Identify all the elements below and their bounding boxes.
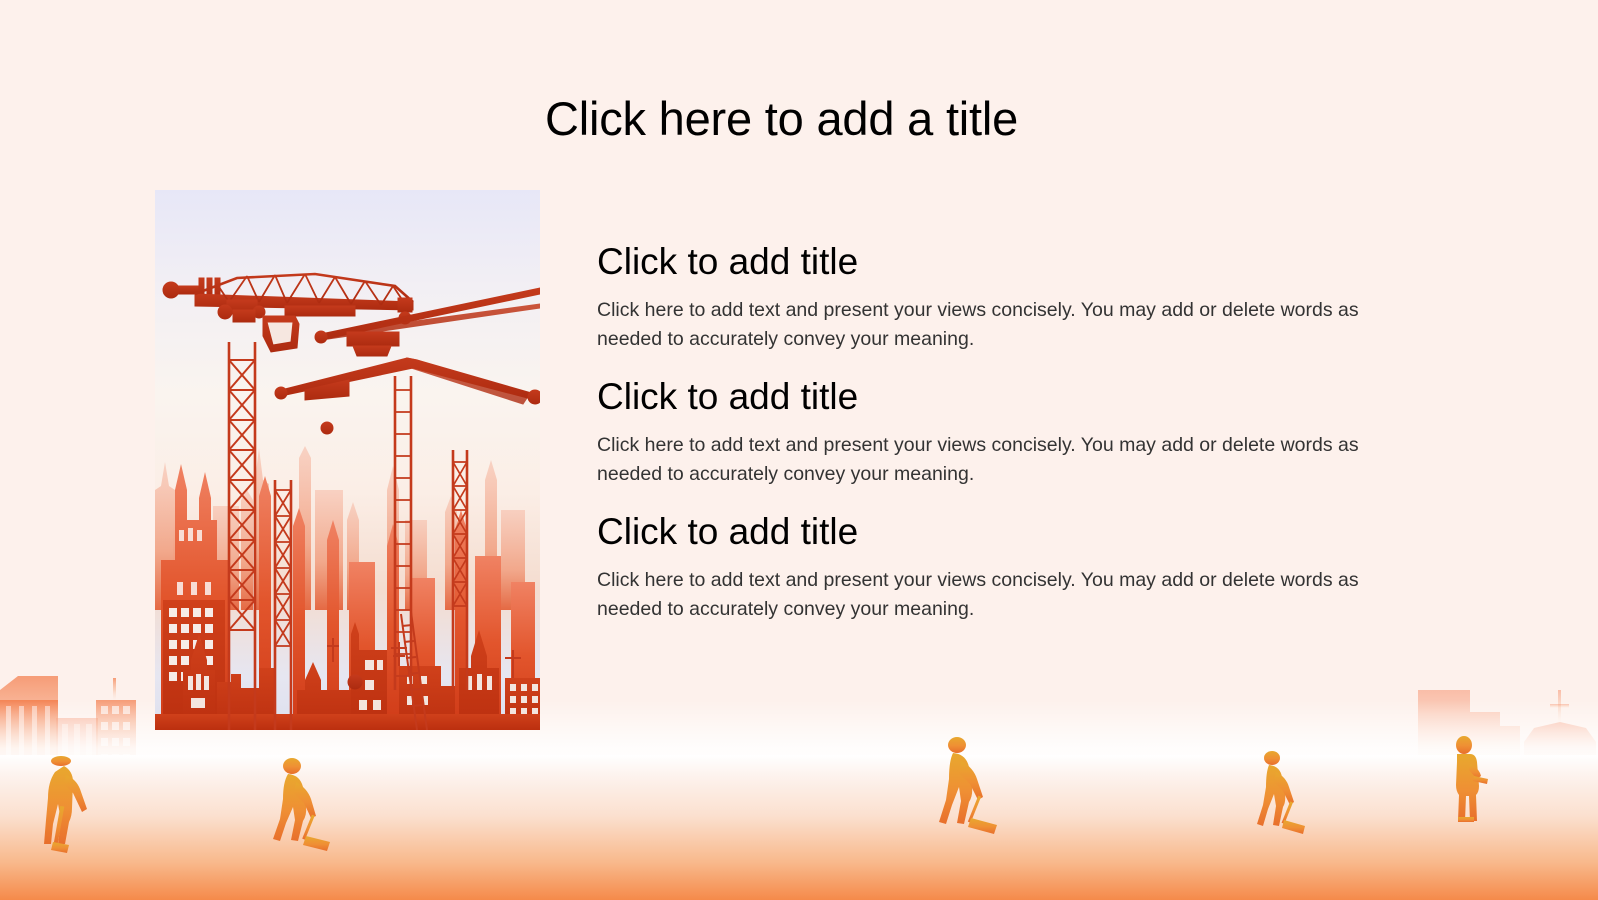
worker-sweeping-center: [939, 737, 997, 834]
content-block-1[interactable]: Click to add title Click here to add tex…: [597, 240, 1457, 353]
content-block-3-body[interactable]: Click here to add text and present your …: [597, 566, 1429, 623]
background-building-left-windowtower: [96, 678, 136, 812]
content-block-2-title[interactable]: Click to add title: [597, 375, 1457, 419]
worker-standing-right: [1456, 736, 1488, 822]
content-block-3[interactable]: Click to add title Click here to add tex…: [597, 510, 1457, 623]
content-block-3-title[interactable]: Click to add title: [597, 510, 1457, 554]
worker-digging-left: [44, 756, 87, 853]
background-building-right-dome: [1524, 690, 1596, 790]
content-block-1-title[interactable]: Click to add title: [597, 240, 1457, 284]
content-column: Click to add title Click here to add tex…: [597, 240, 1457, 623]
content-block-2[interactable]: Click to add title Click here to add tex…: [597, 375, 1457, 488]
worker-sweeping-left: [273, 758, 330, 851]
slide-canvas: Click here to add a title: [0, 0, 1598, 900]
page-title[interactable]: Click here to add a title: [545, 92, 1018, 146]
background-building-right-block: [1418, 690, 1520, 790]
content-block-2-body[interactable]: Click here to add text and present your …: [597, 431, 1429, 488]
worker-sweeping-right: [1257, 751, 1305, 834]
ground-gradient: [0, 755, 1598, 900]
background-building-left-hall: [0, 676, 58, 810]
construction-site-picture[interactable]: [155, 190, 540, 730]
content-block-1-body[interactable]: Click here to add text and present your …: [597, 296, 1429, 353]
construction-site-illustration: [155, 190, 540, 730]
background-building-left-tower: [56, 718, 98, 812]
